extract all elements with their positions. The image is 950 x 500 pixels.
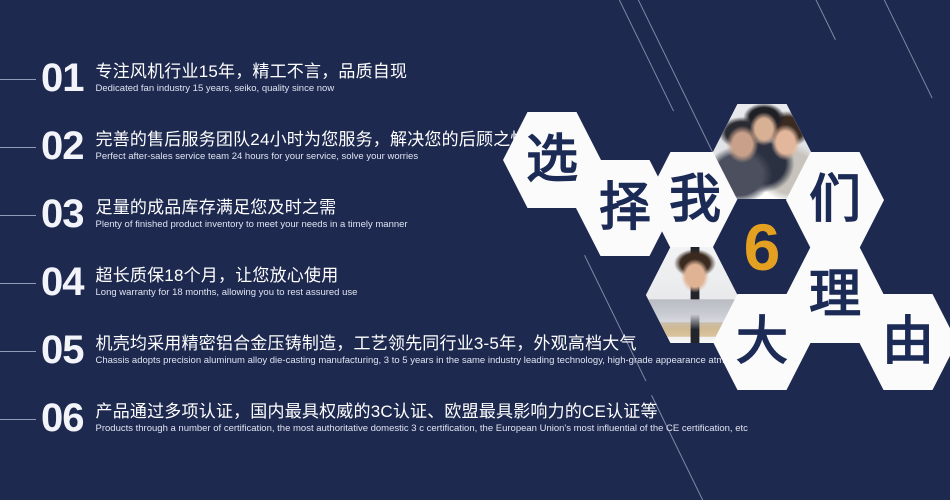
promo-banner: 01 专注风机行业15年，精工不言，品质自现 Dedicated fan ind… [0,0,950,500]
hex-label: 由 [882,316,934,368]
hex-label-accent: 6 [744,214,781,280]
hexagon-headline-cluster: 选 择 我 6 大 们 理 由 [0,0,950,500]
hex-label: 我 [669,174,721,226]
hex-label: 们 [809,174,861,226]
hex-label: 大 [736,316,788,368]
hex-label: 选 [526,134,578,186]
hex-label: 择 [599,182,651,234]
hex-label: 理 [809,269,861,321]
